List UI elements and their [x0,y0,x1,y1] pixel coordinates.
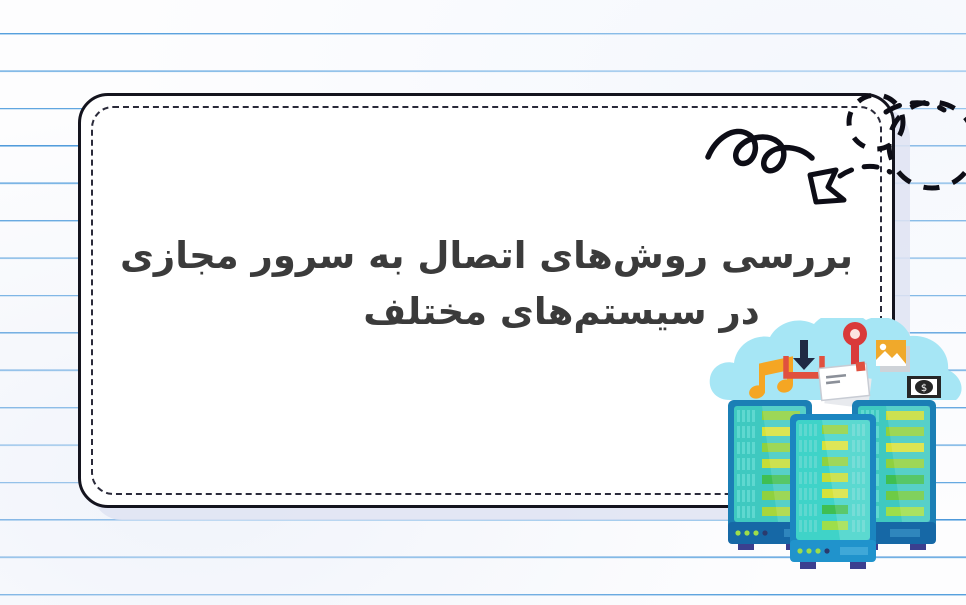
photo-image-icon [876,340,910,372]
cover-canvas: بررسی روش‌های اتصال به سرور مجازی در سیس… [0,0,966,605]
svg-text:$: $ [921,383,927,394]
server-rack-center [790,414,876,569]
cloud-server-illustration: $ [700,318,966,588]
money-bill-icon: $ [907,376,941,398]
